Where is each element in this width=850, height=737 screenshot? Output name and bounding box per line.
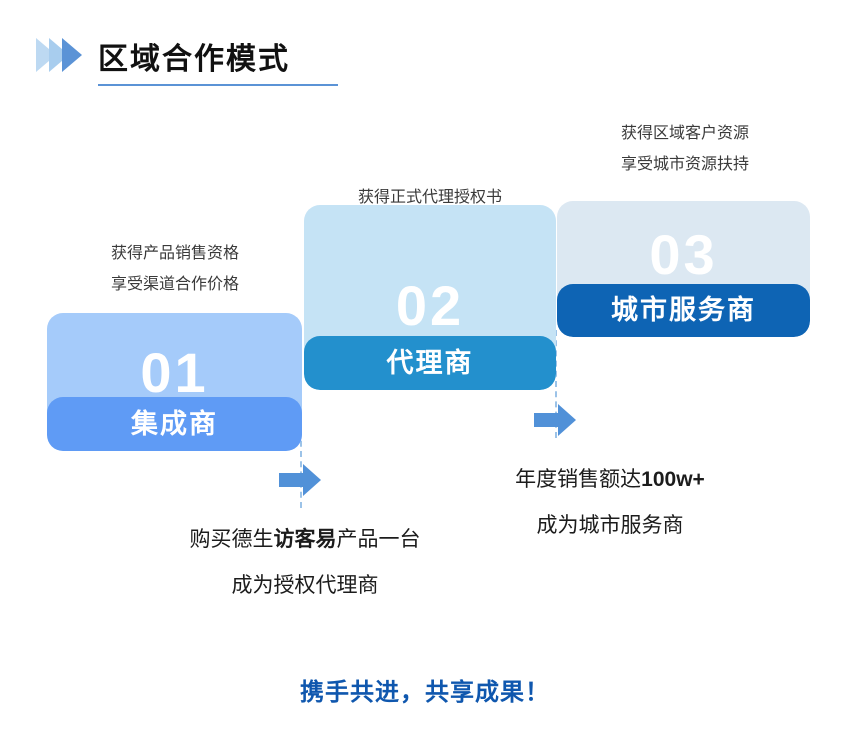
condition-line-2: 成为授权代理商 xyxy=(135,563,475,609)
step-role-label-03: 城市服务商 xyxy=(611,297,756,324)
step-number-03: 03 xyxy=(557,227,810,283)
step-role-bar-01: 集成商 xyxy=(47,397,302,451)
step-role-label-02: 代理商 xyxy=(387,350,474,377)
step-card-02[interactable]: 02 代理商 xyxy=(304,205,556,390)
arrow-right-icon xyxy=(534,403,576,437)
condition-highlight: 100w+ xyxy=(641,468,705,491)
condition-suffix: 产品一台 xyxy=(337,528,421,551)
benefit-line: 享受城市资源扶持 xyxy=(565,149,805,180)
step-benefits-01: 获得产品销售资格 享受渠道合作价格 xyxy=(60,238,290,300)
footer-slogan: 携手共进，共享成果！ xyxy=(0,672,850,707)
step-role-label-01: 集成商 xyxy=(131,411,218,438)
page-title-text: 区域合作模式 xyxy=(98,42,290,78)
infographic-canvas: 区域合作模式 获得产品销售资格 享受渠道合作价格 获得正式代理授权书 享受代理商… xyxy=(0,0,850,737)
condition-line-1: 购买德生访客易产品一台 xyxy=(135,517,475,563)
step-number-01: 01 xyxy=(47,345,302,401)
step-condition-02: 年度销售额达100w+ 成为城市服务商 xyxy=(430,457,790,549)
step-role-bar-03: 城市服务商 xyxy=(557,284,810,337)
title-underline xyxy=(98,84,338,86)
condition-prefix: 年度销售额达 xyxy=(515,468,641,491)
step-role-bar-02: 代理商 xyxy=(304,336,556,390)
step-condition-01: 购买德生访客易产品一台 成为授权代理商 xyxy=(135,517,475,609)
step-number-02: 02 xyxy=(304,278,556,334)
benefit-line: 获得产品销售资格 xyxy=(60,238,290,269)
page-title: 区域合作模式 xyxy=(98,42,290,78)
step-benefits-03: 获得区域客户资源 享受城市资源扶持 xyxy=(565,118,805,180)
condition-line-2: 成为城市服务商 xyxy=(430,503,790,549)
condition-prefix: 购买德生 xyxy=(190,528,274,551)
benefit-line: 获得区域客户资源 xyxy=(565,118,805,149)
step-card-03[interactable]: 03 城市服务商 xyxy=(557,201,810,337)
condition-highlight: 访客易 xyxy=(274,528,337,551)
arrow-right-icon xyxy=(279,463,321,497)
double-chevron-right-icon xyxy=(36,38,82,72)
benefit-line: 享受渠道合作价格 xyxy=(60,269,290,300)
step-card-01[interactable]: 01 集成商 xyxy=(47,313,302,451)
section-header: 区域合作模式 xyxy=(36,38,290,78)
condition-line-1: 年度销售额达100w+ xyxy=(430,457,790,503)
